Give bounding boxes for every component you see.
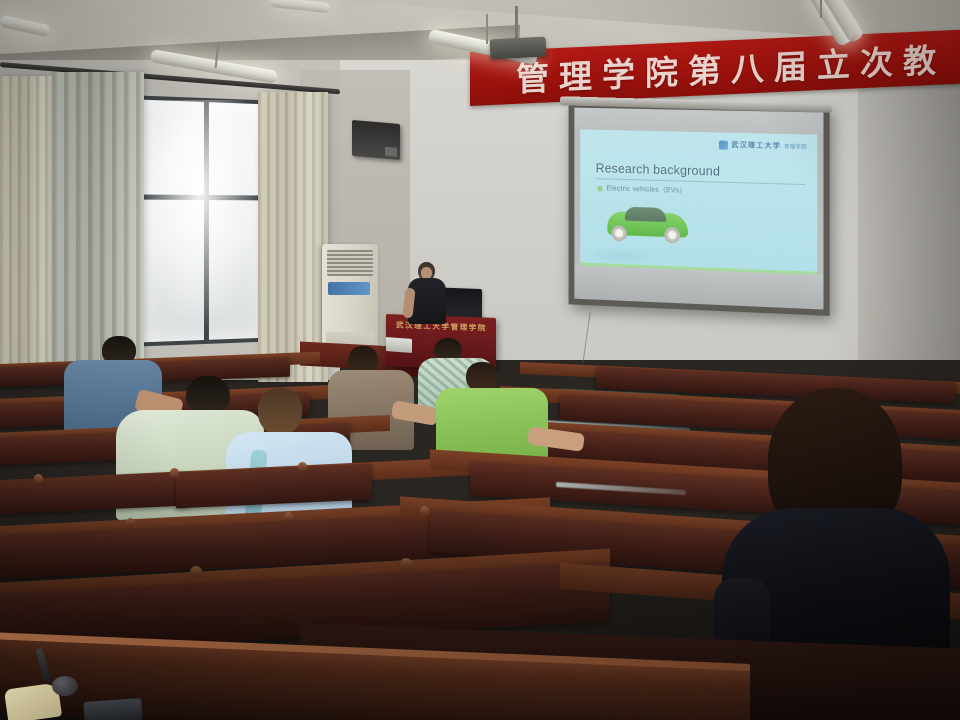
presenter-at-lectern [404, 262, 450, 324]
window-mullion [204, 102, 209, 340]
university-logo: 武汉理工大学 管理学院 [719, 140, 807, 152]
light-suspension-rod [820, 0, 822, 18]
slide-bullet-item: Electric vehicles（EVs） [598, 183, 687, 196]
window-mullion [139, 194, 265, 200]
lecture-hall-photo: 管理学院第八届立次教 武汉理工大学 [0, 0, 960, 720]
curtain-panel [52, 72, 144, 372]
logo-mark-icon [719, 140, 728, 149]
curtain-panel [258, 92, 328, 382]
screen-surface: 武汉理工大学 管理学院 Research background Electric… [574, 108, 823, 310]
umbrella-knob [52, 676, 78, 696]
wall-speaker [352, 120, 400, 160]
ceiling-projector [490, 37, 547, 60]
logo-school-name: 管理学院 [784, 143, 807, 151]
bench-knob [34, 474, 43, 483]
ac-grille-icon [327, 250, 373, 276]
projector-mount [515, 6, 518, 40]
bench-knob [298, 462, 307, 471]
car-wheel [611, 225, 627, 241]
bench-knob [284, 512, 293, 521]
car-wheel [664, 227, 680, 244]
light-suspension-rod [486, 14, 488, 44]
curtain-panel [0, 76, 58, 376]
car-cabin [625, 207, 666, 222]
bench-knob [400, 558, 412, 570]
projection-screen: 武汉理工大学 管理学院 Research background Electric… [569, 102, 830, 316]
right-wall-shadow [858, 60, 960, 360]
ac-brand-label [328, 282, 370, 295]
podium-laptop [386, 337, 412, 353]
slide-title: Research background [596, 161, 720, 178]
bench-knob [190, 566, 202, 578]
smartphone [83, 698, 142, 720]
electric-car-illustration [603, 203, 692, 244]
bench-knob [126, 518, 135, 527]
bullet-square-icon [598, 186, 603, 191]
attendee-head [258, 388, 302, 434]
window [135, 95, 269, 346]
presentation-slide: 武汉理工大学 管理学院 Research background Electric… [580, 129, 817, 281]
bench-knob [170, 468, 179, 477]
slide-bullet-text: Electric vehicles（EVs） [606, 183, 686, 195]
logo-university-name: 武汉理工大学 [731, 140, 781, 151]
bench-knob [420, 506, 429, 515]
